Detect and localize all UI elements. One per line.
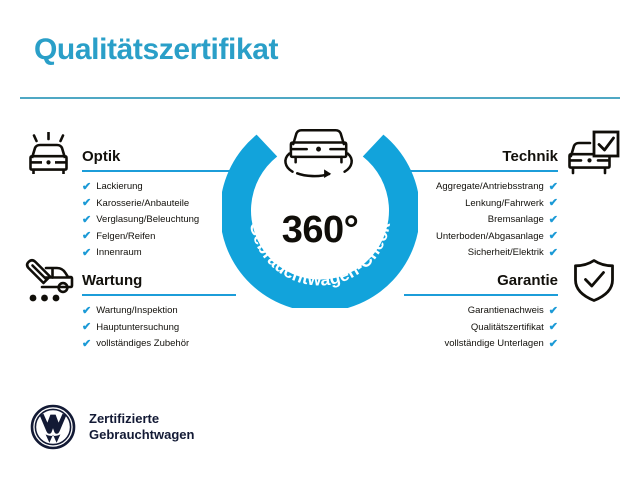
checklist-garantie: Garantienachweis ✔ Qualitätszertifikat ✔… [404, 303, 558, 353]
section-technik: Technik Aggregate/Antriebsstrang ✔ Lenku… [404, 138, 558, 262]
check-icon: ✔ [549, 231, 558, 242]
check-icon: ✔ [549, 248, 558, 259]
check-icon: ✔ [82, 306, 91, 317]
list-item-label: Unterboden/Abgasanlage [436, 229, 544, 246]
list-item: ✔ Lackierung [82, 179, 236, 196]
list-item-label: Wartung/Inspektion [96, 303, 178, 320]
check-icon: ✔ [82, 339, 91, 350]
section-title-optik: Optik [82, 148, 120, 165]
vw-footer-line2: Gebrauchtwagen [89, 427, 194, 442]
shield-check-icon [570, 258, 618, 307]
section-garantie: Garantie Garantienachweis ✔ Qualitätszer… [404, 262, 558, 353]
wrench-car-icon [22, 256, 76, 311]
list-item: ✔ Felgen/Reifen [82, 229, 236, 246]
certificate-page: Qualitätszertifikat [0, 0, 640, 480]
list-item-label: Felgen/Reifen [96, 229, 155, 246]
list-item-label: vollständige Unterlagen [444, 336, 543, 353]
list-item-label: Karosserie/Anbauteile [96, 196, 189, 213]
check-icon: ✔ [82, 322, 91, 333]
section-optik: Optik ✔ Lackierung ✔ Karosserie/Anbautei… [82, 138, 236, 262]
list-item: vollständige Unterlagen ✔ [404, 336, 558, 353]
list-item-label: Verglasung/Beleuchtung [96, 212, 199, 229]
list-item-label: Bremsanlage [488, 212, 544, 229]
check-icon: ✔ [82, 182, 91, 193]
check-icon: ✔ [82, 215, 91, 226]
list-item: Aggregate/Antriebsstrang ✔ [404, 179, 558, 196]
checklist-optik: ✔ Lackierung ✔ Karosserie/Anbauteile ✔ V… [82, 179, 236, 262]
check-icon: ✔ [549, 182, 558, 193]
list-item: ✔ Innenraum [82, 245, 236, 262]
section-title-garantie: Garantie [497, 272, 558, 289]
check-icon: ✔ [549, 306, 558, 317]
360-check-badge: Gebrauchtwagen-Check [222, 112, 418, 308]
vw-footer: ZertifizierteGebrauchtwagen [30, 404, 194, 450]
list-item-label: Qualitätszertifikat [471, 320, 544, 337]
check-icon: ✔ [82, 248, 91, 259]
list-item-label: Lenkung/Fahrwerk [465, 196, 544, 213]
list-item: ✔ Hauptuntersuchung [82, 320, 236, 337]
list-item: ✔ Karosserie/Anbauteile [82, 196, 236, 213]
section-title-wartung: Wartung [82, 272, 142, 289]
section-header: Optik [82, 138, 236, 172]
section-divider [404, 170, 558, 172]
list-item-label: Aggregate/Antriebsstrang [436, 179, 544, 196]
list-item-label: Sicherheit/Elektrik [468, 245, 544, 262]
car-checkbox-icon [566, 130, 620, 183]
list-item: Qualitätszertifikat ✔ [404, 320, 558, 337]
check-icon: ✔ [82, 231, 91, 242]
list-item-label: Garantienachweis [468, 303, 544, 320]
check-icon: ✔ [549, 322, 558, 333]
vw-logo-icon [30, 404, 76, 450]
car-shine-icon [24, 132, 74, 183]
list-item-label: Innenraum [96, 245, 141, 262]
vw-footer-label: ZertifizierteGebrauchtwagen [89, 411, 194, 443]
check-icon: ✔ [549, 215, 558, 226]
check-icon: ✔ [549, 339, 558, 350]
section-wartung: Wartung ✔ Wartung/Inspektion ✔ Hauptunte… [82, 262, 236, 353]
list-item: Sicherheit/Elektrik ✔ [404, 245, 558, 262]
list-item: Bremsanlage ✔ [404, 212, 558, 229]
list-item-label: Hauptuntersuchung [96, 320, 179, 337]
check-icon: ✔ [549, 198, 558, 209]
checklist-wartung: ✔ Wartung/Inspektion ✔ Hauptuntersuchung… [82, 303, 236, 353]
section-header: Wartung [82, 262, 236, 296]
check-icon: ✔ [82, 198, 91, 209]
section-divider [404, 294, 558, 296]
title-divider [20, 97, 620, 99]
section-header: Technik [404, 138, 558, 172]
section-divider [82, 294, 236, 296]
list-item: ✔ vollständiges Zubehör [82, 336, 236, 353]
list-item-label: vollständiges Zubehör [96, 336, 189, 353]
page-title: Qualitätszertifikat [34, 33, 278, 67]
section-title-technik: Technik [502, 148, 558, 165]
list-item: ✔ Verglasung/Beleuchtung [82, 212, 236, 229]
vw-footer-line1: Zertifizierte [89, 411, 159, 426]
section-divider [82, 170, 236, 172]
list-item-label: Lackierung [96, 179, 142, 196]
list-item: Garantienachweis ✔ [404, 303, 558, 320]
list-item: ✔ Wartung/Inspektion [82, 303, 236, 320]
checklist-technik: Aggregate/Antriebsstrang ✔ Lenkung/Fahrw… [404, 179, 558, 262]
badge-degrees: 360° [282, 209, 359, 251]
list-item: Lenkung/Fahrwerk ✔ [404, 196, 558, 213]
section-header: Garantie [404, 262, 558, 296]
list-item: Unterboden/Abgasanlage ✔ [404, 229, 558, 246]
